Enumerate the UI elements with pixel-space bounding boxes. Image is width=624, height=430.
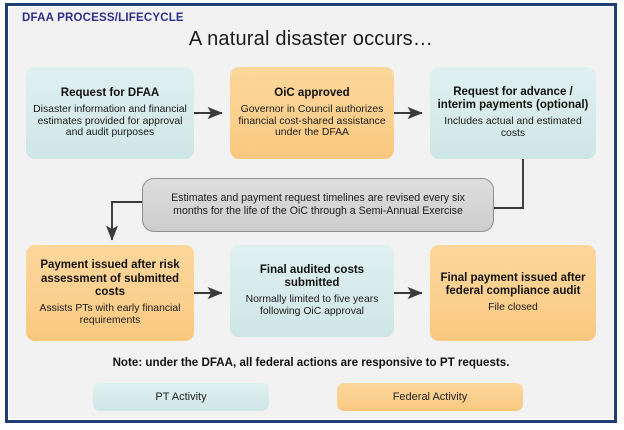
midbox-text: Estimates and payment request timelines … [153, 192, 483, 218]
legend-item-pt-activity[interactable]: PT Activity [93, 383, 269, 411]
node-detail: Disaster information and financial estim… [33, 104, 187, 140]
node-detail: Governor in Council authorizes financial… [237, 104, 387, 140]
flow-node-request-for-dfaa[interactable]: Request for DFAA Disaster information an… [26, 67, 194, 159]
node-title: Final payment issued after federal compl… [437, 272, 589, 298]
diagram-canvas: DFAA PROCESS/LIFECYCLE A natural disaste… [8, 6, 614, 420]
node-title: Request for DFAA [61, 87, 159, 100]
legend-label: Federal Activity [393, 391, 468, 403]
connector-box3-to-midbox [494, 156, 523, 208]
flow-node-final-payment-issued[interactable]: Final payment issued after federal compl… [430, 245, 596, 341]
flow-node-request-for-advance[interactable]: Request for advance / interim payments (… [430, 67, 596, 159]
flow-node-payment-issued[interactable]: Payment issued after risk assessment of … [26, 245, 194, 341]
diagram-frame: DFAA PROCESS/LIFECYCLE A natural disaste… [5, 3, 617, 423]
node-title: Final audited costs submitted [237, 264, 387, 290]
node-detail: Includes actual and estimated costs [437, 116, 589, 140]
flow-node-oic-approved[interactable]: OiC approved Governor in Council authori… [230, 67, 394, 159]
node-detail: File closed [488, 302, 538, 314]
legend-item-federal-activity[interactable]: Federal Activity [337, 383, 523, 411]
legend-label: PT Activity [155, 391, 206, 403]
node-title: Request for advance / interim payments (… [437, 86, 589, 112]
connector-midbox-to-box4 [112, 202, 143, 240]
node-title: OiC approved [274, 87, 349, 100]
node-title: Payment issued after risk assessment of … [33, 259, 187, 298]
node-detail: Normally limited to five years following… [237, 294, 387, 318]
flow-node-semi-annual-exercise[interactable]: Estimates and payment request timelines … [142, 178, 494, 232]
node-detail: Assists PTs with early financial require… [33, 303, 187, 327]
flow-node-final-audited-costs[interactable]: Final audited costs submitted Normally l… [230, 245, 394, 337]
footnote-text: Note: under the DFAA, all federal action… [8, 356, 614, 369]
